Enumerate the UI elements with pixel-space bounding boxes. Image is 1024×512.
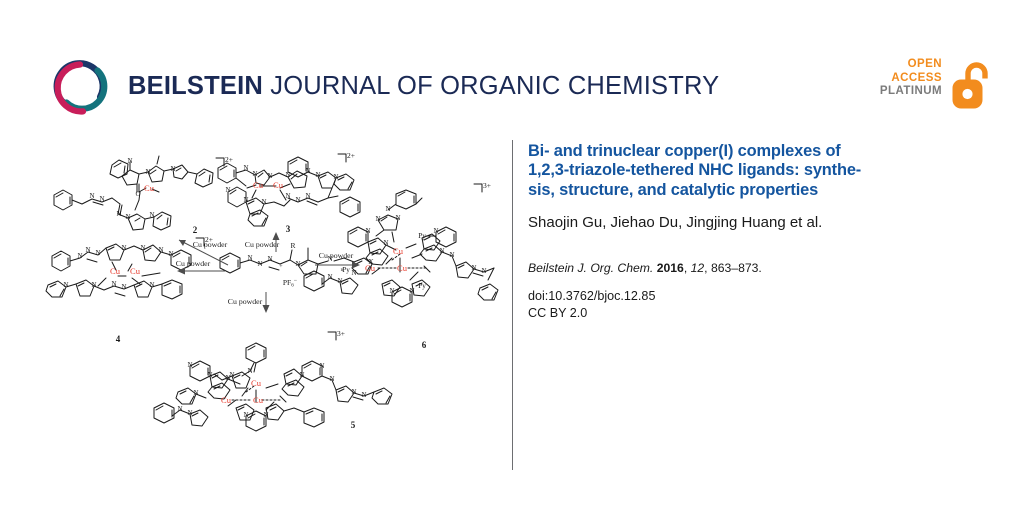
citation-journal: Beilstein J. Org. Chem. bbox=[528, 261, 653, 275]
atom-label-n: N bbox=[207, 371, 212, 379]
atom-label-n: N bbox=[361, 391, 366, 399]
atom-label-n: N bbox=[327, 273, 332, 281]
citation-pages: 863–873 bbox=[711, 261, 758, 275]
atom-label-n: N bbox=[267, 172, 272, 180]
copper-atom-label: Cu bbox=[221, 395, 232, 405]
atom-label-n: N bbox=[121, 244, 126, 252]
n-subscript-label: n bbox=[341, 267, 344, 273]
copper-atom-label: Cu bbox=[130, 266, 141, 276]
article-title-line-2: 1,2,3-triazole-tethered NHC ligands: syn… bbox=[528, 161, 861, 179]
atom-label-n: N bbox=[351, 269, 356, 277]
reagent-label-cu-powder: Cu powder bbox=[319, 251, 354, 260]
atom-label-n: N bbox=[481, 267, 486, 275]
atom-label-n: N bbox=[140, 244, 145, 252]
atom-label-n: N bbox=[149, 281, 154, 289]
open-access-text: OPEN ACCESS PLATINUM bbox=[880, 58, 942, 99]
atom-label-n: N bbox=[243, 196, 248, 204]
atom-label-n: N bbox=[111, 280, 116, 288]
atom-label-n: N bbox=[243, 164, 248, 172]
pyridine-label: Py bbox=[342, 266, 350, 274]
atom-label-n: N bbox=[351, 388, 356, 396]
atom-label-n: N bbox=[305, 167, 310, 175]
cation-plus-label: + bbox=[279, 264, 283, 270]
citation-comma-1: , bbox=[684, 261, 691, 275]
atom-label-n: N bbox=[225, 374, 230, 382]
open-access-line-access: ACCESS bbox=[880, 72, 942, 86]
charge-label-structure-6: 3+ bbox=[483, 181, 491, 190]
atom-label-n: N bbox=[329, 375, 334, 383]
atom-label-n: N bbox=[193, 389, 198, 397]
copper-atom-label: Cu bbox=[273, 180, 284, 190]
copper-atom-label: Cu bbox=[251, 378, 262, 388]
atom-label-n: N bbox=[337, 277, 342, 285]
open-lock-icon bbox=[948, 60, 990, 112]
atom-label-n: N bbox=[91, 281, 96, 289]
atom-label-n: N bbox=[127, 157, 132, 165]
atom-label-n: N bbox=[365, 227, 370, 235]
atom-label-n: N bbox=[187, 409, 192, 417]
atom-label-n: N bbox=[439, 247, 444, 255]
charge-label-structure-3: 2+ bbox=[347, 151, 355, 160]
copper-atom-label: Cu bbox=[144, 183, 155, 193]
atom-label-n: N bbox=[243, 411, 248, 419]
atom-label-n: N bbox=[225, 186, 230, 194]
atom-label-n: N bbox=[333, 173, 338, 181]
article-citation: Beilstein J. Org. Chem. 2016, 12, 863–87… bbox=[528, 260, 968, 276]
journal-title-light: JOURNAL OF ORGANIC CHEMISTRY bbox=[263, 72, 719, 100]
atom-label-n: N bbox=[99, 195, 104, 203]
reagent-label-cu-powder: Cu powder bbox=[245, 240, 280, 249]
atom-label-n: N bbox=[145, 168, 150, 176]
citation-period: . bbox=[758, 261, 761, 275]
charge-label-structure-2: 2+ bbox=[225, 155, 233, 164]
atom-label-n: N bbox=[168, 250, 173, 258]
atom-label-n: N bbox=[449, 251, 454, 259]
copper-atom-label: Cu bbox=[253, 395, 264, 405]
atom-label-n: N bbox=[389, 287, 394, 295]
atom-label-n: N bbox=[247, 254, 252, 262]
beilstein-swirl-logo-icon bbox=[50, 57, 112, 119]
atom-label-n: N bbox=[121, 283, 126, 291]
atom-label-n: N bbox=[305, 192, 310, 200]
atom-label-n: N bbox=[263, 411, 268, 419]
copper-atom-label: Cu bbox=[393, 246, 404, 256]
atom-label-n: N bbox=[285, 171, 290, 179]
article-authors: Shaojin Gu, Jiehao Du, Jingjing Huang et… bbox=[528, 214, 968, 232]
article-cover-page: BEILSTEIN JOURNAL OF ORGANIC CHEMISTRY O… bbox=[0, 0, 1024, 512]
atom-label-n: N bbox=[295, 196, 300, 204]
journal-title: BEILSTEIN JOURNAL OF ORGANIC CHEMISTRY bbox=[128, 72, 719, 101]
atom-label-n: N bbox=[89, 192, 94, 200]
atom-label-n: N bbox=[257, 260, 262, 268]
atom-label-n: N bbox=[471, 264, 476, 272]
atom-label-n: N bbox=[385, 205, 390, 213]
copper-atom-label: Cu bbox=[110, 266, 121, 276]
atom-label-n: N bbox=[395, 214, 400, 222]
structure-5-graphic bbox=[154, 343, 392, 431]
atom-label-n: N bbox=[299, 371, 304, 379]
charge-label-structure-5: 3+ bbox=[337, 329, 345, 338]
open-access-line-open: OPEN bbox=[880, 58, 942, 72]
atom-label-n: N bbox=[149, 211, 154, 219]
atom-label-n: N bbox=[85, 246, 90, 254]
structure-2-graphic bbox=[54, 156, 213, 230]
open-access-line-platinum: PLATINUM bbox=[880, 85, 942, 99]
article-license: CC BY 2.0 bbox=[528, 305, 968, 322]
atom-label-n: N bbox=[285, 192, 290, 200]
atom-label-n: N bbox=[267, 255, 272, 263]
atom-label-o: O bbox=[135, 190, 140, 198]
atom-label-n: N bbox=[295, 260, 300, 268]
atom-label-n: N bbox=[187, 361, 192, 369]
atom-label-n: N bbox=[95, 249, 100, 257]
article-metadata: Bi- and trinuclear copper(I) complexes o… bbox=[528, 142, 968, 322]
atom-label-n: N bbox=[247, 367, 252, 375]
structure-number-6: 6 bbox=[422, 340, 427, 350]
atom-label-n: N bbox=[433, 227, 438, 235]
structure-number-3: 3 bbox=[286, 224, 291, 234]
vertical-divider bbox=[512, 140, 513, 470]
atom-label-n: N bbox=[383, 239, 388, 247]
pyridine-label: Py bbox=[418, 282, 426, 290]
atom-label-n: N bbox=[315, 171, 320, 179]
structure-number-4: 4 bbox=[116, 334, 121, 344]
page-header: BEILSTEIN JOURNAL OF ORGANIC CHEMISTRY O… bbox=[0, 0, 1024, 140]
journal-title-bold: BEILSTEIN bbox=[128, 72, 263, 100]
atom-label-n: N bbox=[125, 213, 130, 221]
atom-label-n: N bbox=[63, 281, 68, 289]
atom-label-n: N bbox=[158, 246, 163, 254]
copper-atom-label: Cu bbox=[253, 180, 264, 190]
article-title: Bi- and trinuclear copper(I) complexes o… bbox=[528, 142, 968, 200]
atom-label-n: N bbox=[252, 170, 257, 178]
r-group-label: R bbox=[290, 241, 295, 250]
citation-comma-2: , bbox=[704, 261, 711, 275]
article-title-line-1: Bi- and trinuclear copper(I) complexes o… bbox=[528, 142, 841, 160]
copper-atom-label: Cu bbox=[397, 263, 408, 273]
atom-label-n: N bbox=[77, 252, 82, 260]
atom-label-n: N bbox=[375, 215, 380, 223]
reagent-label-cu-powder: Cu powder bbox=[228, 297, 263, 306]
counterion-label: PF6− bbox=[283, 278, 298, 289]
atom-label-n: N bbox=[170, 165, 175, 173]
citation-year: 2016 bbox=[657, 261, 684, 275]
reagent-label-cu-powder: Cu powder bbox=[176, 259, 211, 268]
article-title-line-3: sis, structure, and catalytic properties bbox=[528, 181, 818, 199]
structure-number-2: 2 bbox=[193, 225, 198, 235]
atom-label-n: N bbox=[177, 405, 182, 413]
reagent-label-cu-powder: Cu powder bbox=[193, 240, 228, 249]
pyridine-label: Py bbox=[418, 232, 426, 240]
x-group-label: X bbox=[368, 257, 374, 266]
open-access-badge: OPEN ACCESS PLATINUM bbox=[880, 58, 990, 120]
atom-label-n: N bbox=[319, 362, 324, 370]
article-doi: doi:10.3762/bjoc.12.85 bbox=[528, 288, 968, 305]
graphical-abstract-scheme: N N N O N N N N N N N N N N N N N N N N bbox=[40, 140, 510, 460]
atom-label-n: N bbox=[116, 210, 121, 218]
citation-volume: 12 bbox=[691, 261, 705, 275]
structure-number-5: 5 bbox=[351, 420, 356, 430]
atom-label-n: N bbox=[409, 287, 414, 295]
atom-label-n: N bbox=[261, 198, 266, 206]
